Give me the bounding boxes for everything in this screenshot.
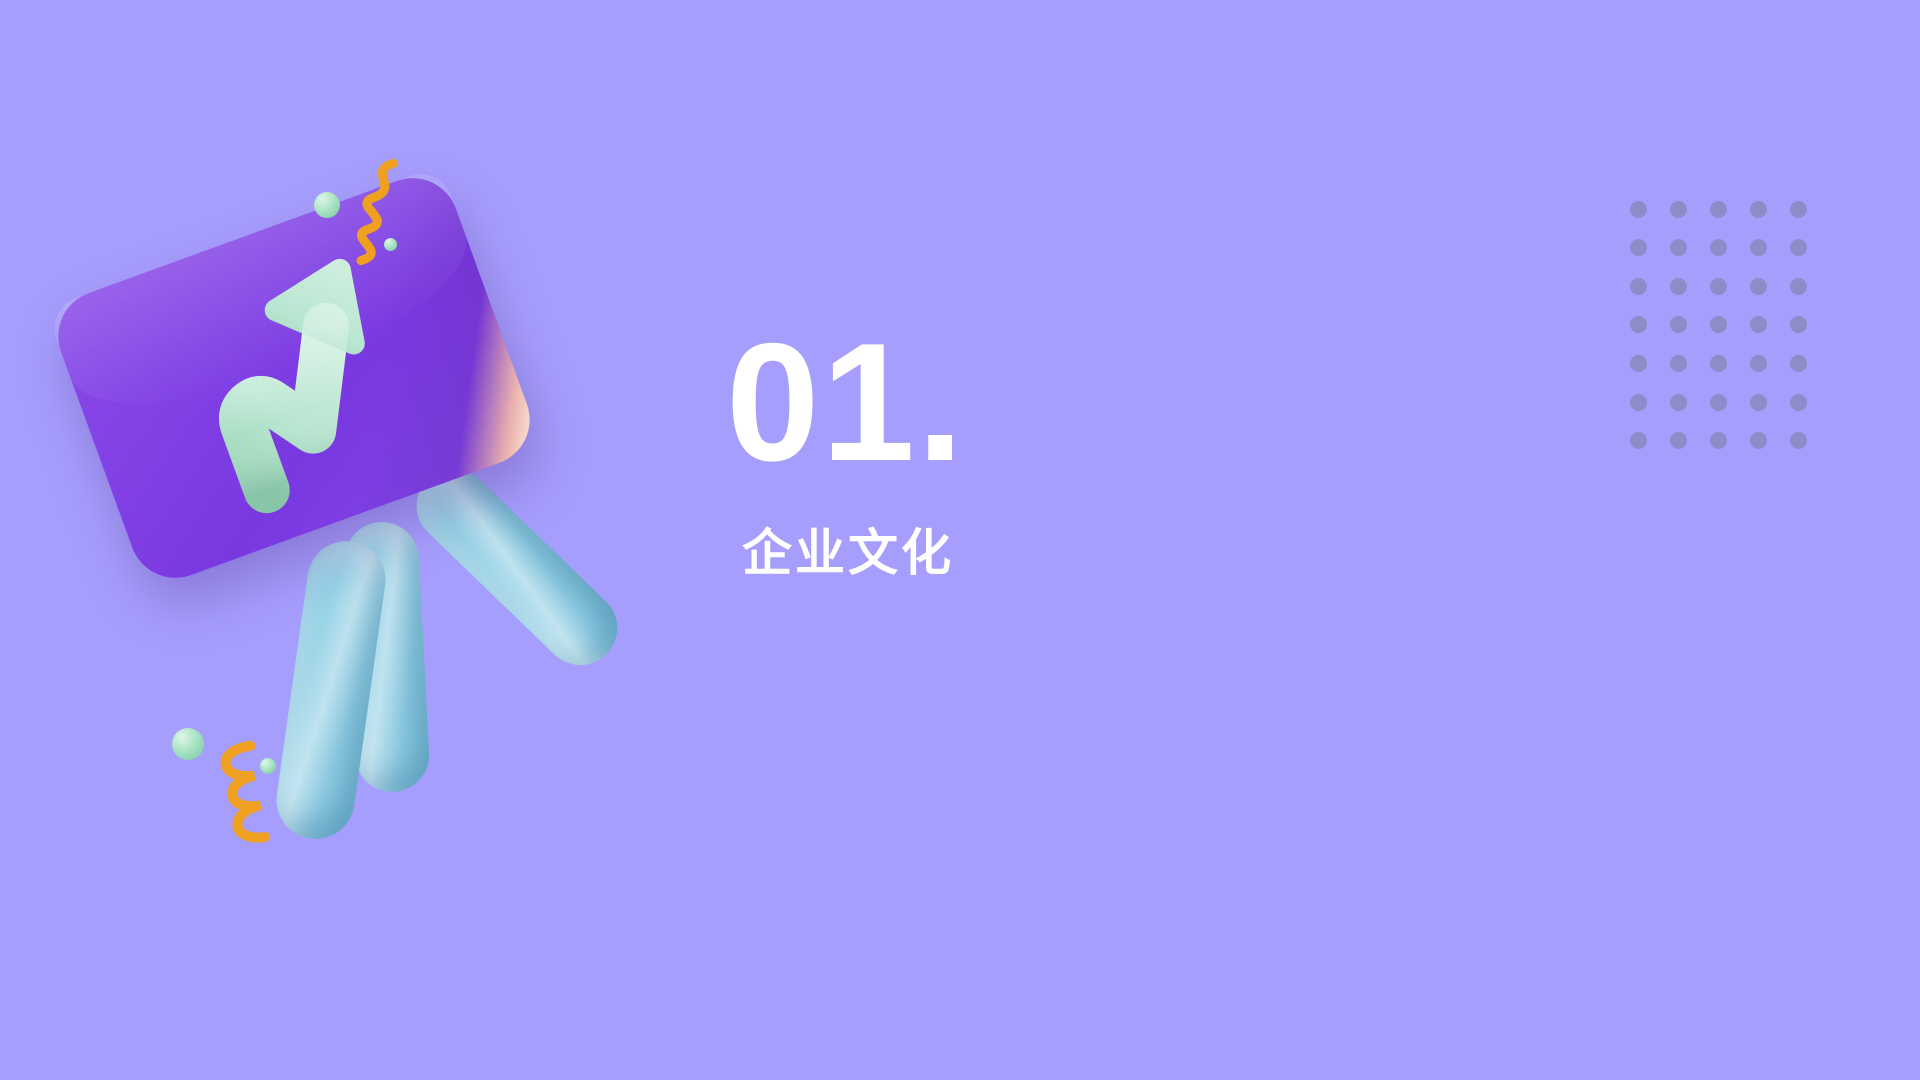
confetti-squiggle: [206, 735, 294, 858]
grid-dot: [1710, 278, 1727, 295]
grid-dot: [1790, 316, 1807, 333]
confetti-sphere: [172, 728, 204, 760]
grid-dot: [1630, 394, 1647, 411]
grid-dot: [1750, 432, 1767, 449]
grid-dot: [1750, 316, 1767, 333]
grid-dot: [1710, 239, 1727, 256]
grid-dot: [1670, 355, 1687, 372]
grid-dot: [1630, 316, 1647, 333]
grid-dot: [1630, 432, 1647, 449]
grid-dot: [1670, 432, 1687, 449]
sign-leg-right: [401, 453, 632, 680]
grid-dot: [1790, 278, 1807, 295]
grid-dot: [1710, 432, 1727, 449]
growth-chart-sign-illustration: [60, 150, 680, 870]
grid-dot: [1710, 316, 1727, 333]
grid-dot: [1790, 355, 1807, 372]
grid-dot: [1710, 355, 1727, 372]
grid-dot: [1750, 278, 1767, 295]
grid-dot: [1630, 201, 1647, 218]
grid-dot: [1670, 394, 1687, 411]
confetti-sphere: [314, 192, 340, 218]
grid-dot: [1630, 239, 1647, 256]
confetti-squiggle: [336, 153, 418, 275]
section-number: 01.: [726, 318, 1246, 486]
grid-dot: [1630, 355, 1647, 372]
grid-dot: [1790, 432, 1807, 449]
grid-dot: [1790, 239, 1807, 256]
grid-dot: [1750, 201, 1767, 218]
grid-dot: [1750, 355, 1767, 372]
grid-dot: [1670, 316, 1687, 333]
grid-dot: [1790, 201, 1807, 218]
grid-dot: [1710, 394, 1727, 411]
grid-dot: [1670, 239, 1687, 256]
section-subtitle: 企业文化: [726, 528, 1246, 578]
grid-dot: [1750, 239, 1767, 256]
grid-dot: [1710, 201, 1727, 218]
slide-canvas: 01. 企业文化: [0, 0, 1920, 1080]
grid-dot: [1670, 278, 1687, 295]
section-heading-block: 01. 企业文化: [726, 318, 1246, 578]
grid-dot: [1750, 394, 1767, 411]
decorative-dot-grid: [1618, 190, 1818, 460]
trending-up-arrow-icon: [172, 236, 452, 513]
grid-dot: [1630, 278, 1647, 295]
grid-dot: [1670, 201, 1687, 218]
grid-dot: [1790, 394, 1807, 411]
